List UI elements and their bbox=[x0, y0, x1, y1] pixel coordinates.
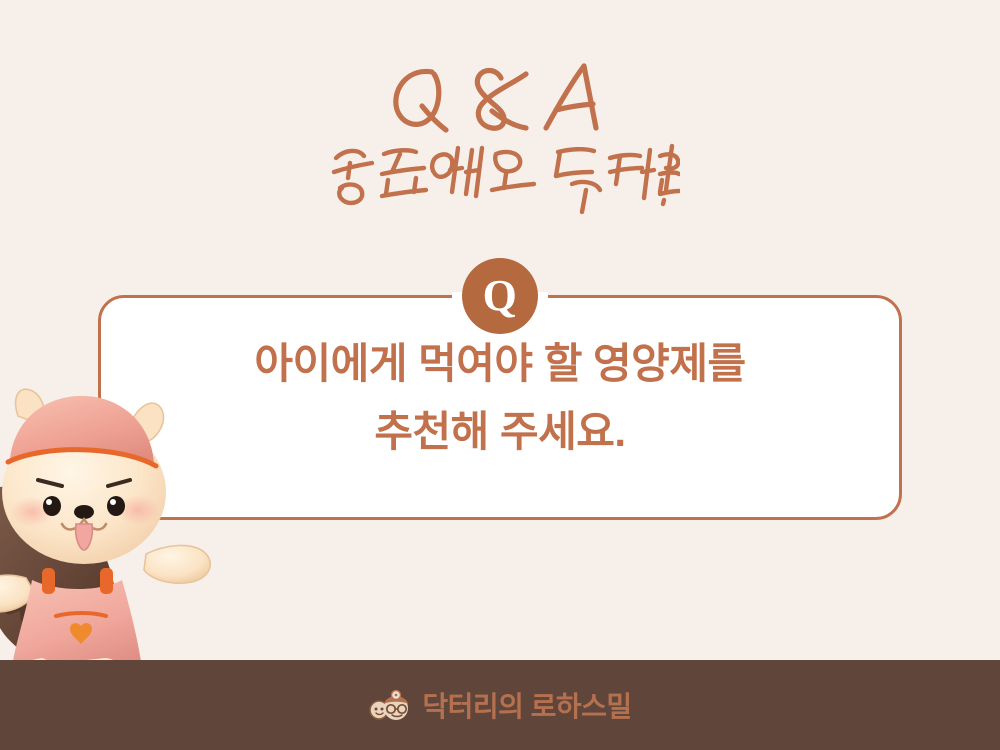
mascot-eye-right bbox=[107, 496, 125, 516]
footer-logo-text: 닥터리의 로하스밀 bbox=[422, 685, 631, 725]
mascot-eye-left bbox=[43, 496, 61, 516]
footer-bar: 닥터리의 로하스밀 bbox=[0, 660, 1000, 750]
handwritten-header: Q&A 궁금해요 닥터리! bbox=[0, 58, 1000, 227]
footer-logo[interactable]: 닥터리의 로하스밀 bbox=[0, 660, 1000, 750]
mascot-eye-glint-left bbox=[46, 499, 52, 505]
mascot-eye-glint-right bbox=[110, 499, 116, 505]
mascot-nose bbox=[74, 505, 94, 519]
mascot-strap-right bbox=[100, 568, 113, 594]
script-title-qa: Q&A bbox=[370, 58, 630, 138]
script-subtitle-korean: 궁금해요 닥터리! bbox=[320, 132, 680, 227]
mascot-strap-left bbox=[42, 568, 55, 594]
mascot-right-arm bbox=[144, 545, 210, 583]
question-badge: Q bbox=[462, 258, 538, 334]
hedgehog-mascot bbox=[0, 382, 230, 682]
qna-card-canvas: Q&A 궁금해요 닥터리! bbox=[0, 0, 1000, 750]
doctor-and-child-icon bbox=[368, 688, 412, 722]
